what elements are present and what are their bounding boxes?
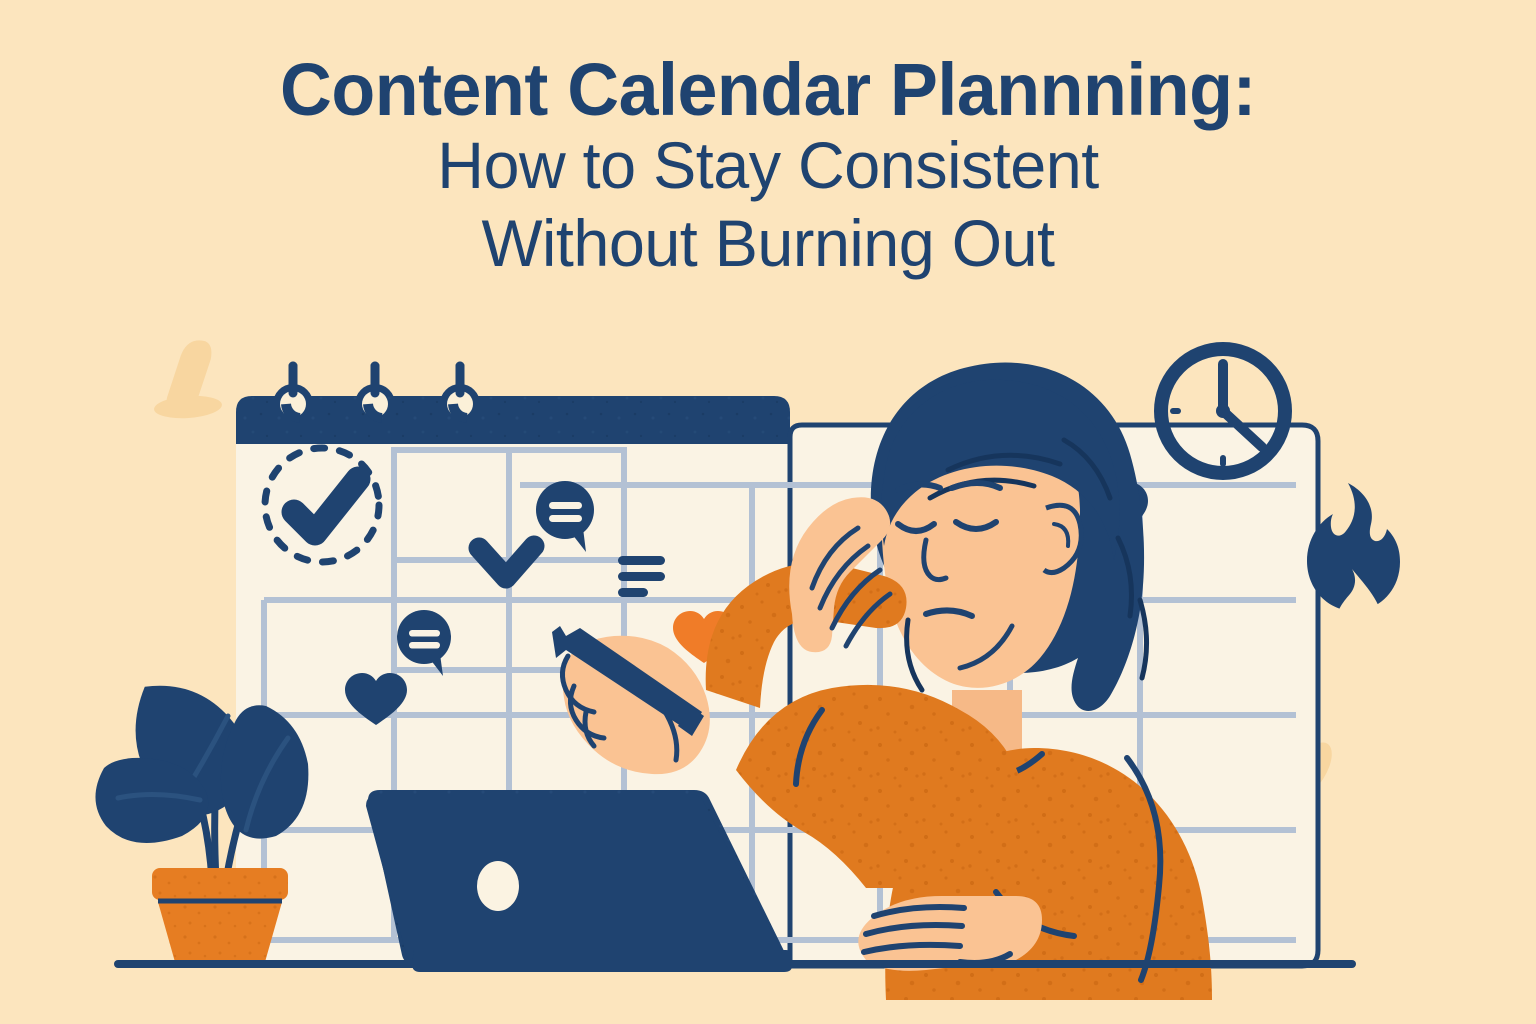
pot-body — [158, 902, 282, 962]
laptop-logo — [477, 861, 519, 911]
illustration-canvas: Content Calendar Plannning: How to Stay … — [0, 0, 1536, 1024]
hero-illustration — [0, 0, 1536, 1024]
pot-rim — [152, 868, 288, 900]
calendar-header-bar — [236, 396, 790, 444]
